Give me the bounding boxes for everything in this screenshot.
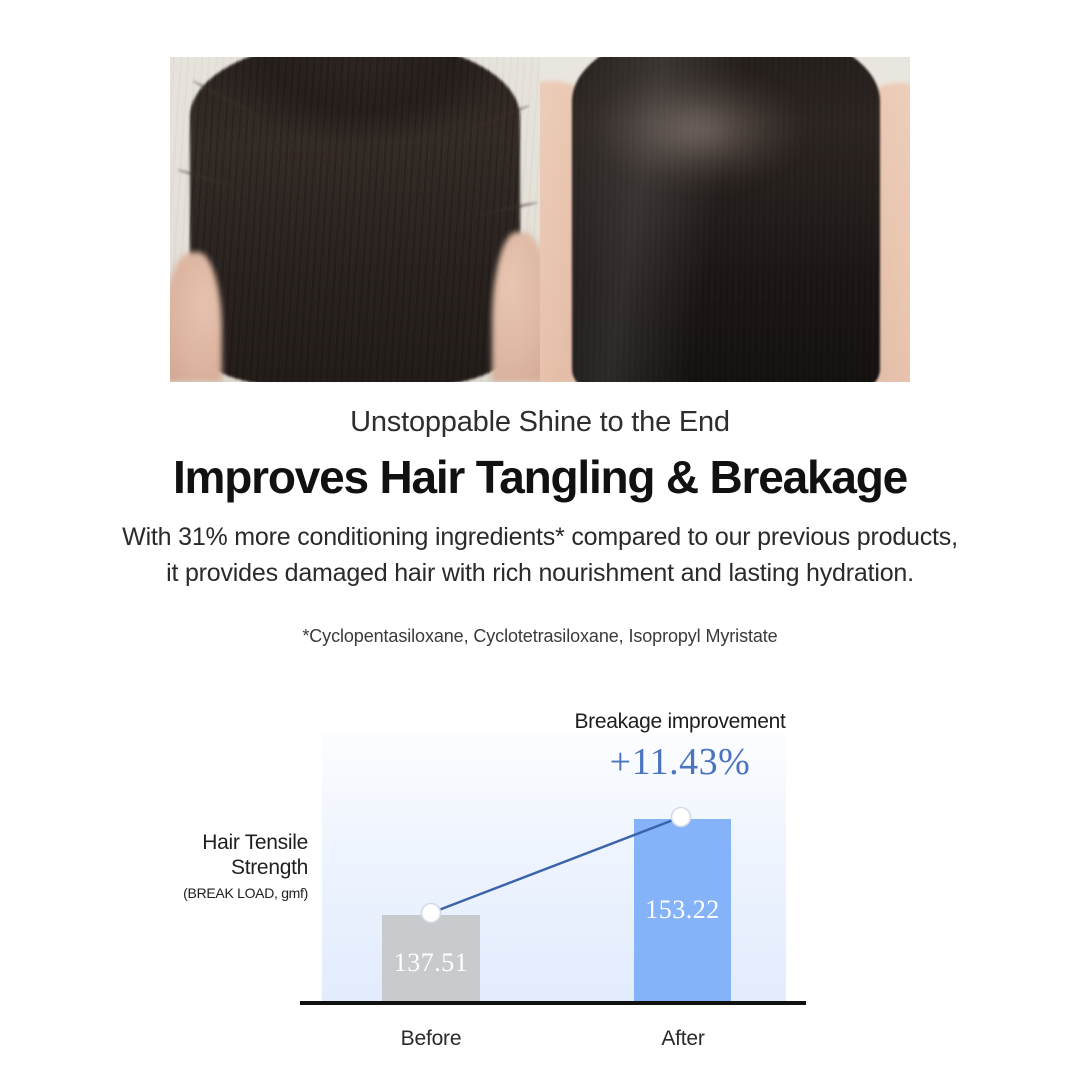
y-axis-label: Hair Tensile Strength (BREAK LOAD, gmf): [150, 831, 308, 901]
x-tick-after: After: [583, 1027, 783, 1051]
x-axis-line: [300, 1001, 806, 1005]
bar-after: 153.22: [634, 819, 731, 1001]
x-tick-before: Before: [331, 1027, 531, 1051]
bar-value-before: 137.51: [382, 948, 480, 978]
y-axis-title: Hair Tensile Strength: [150, 831, 308, 881]
breakage-improvement-value: +11.43%: [530, 740, 830, 784]
breakage-improvement-label: Breakage improvement: [530, 710, 830, 734]
y-axis-unit: (BREAK LOAD, gmf): [150, 885, 308, 901]
bar-before: 137.51: [382, 915, 480, 1001]
tensile-strength-chart: Breakage improvement +11.43% Hair Tensil…: [0, 0, 1080, 1080]
bar-value-after: 153.22: [634, 895, 731, 925]
promo-page: Unstoppable Shine to the End Improves Ha…: [0, 0, 1080, 1080]
